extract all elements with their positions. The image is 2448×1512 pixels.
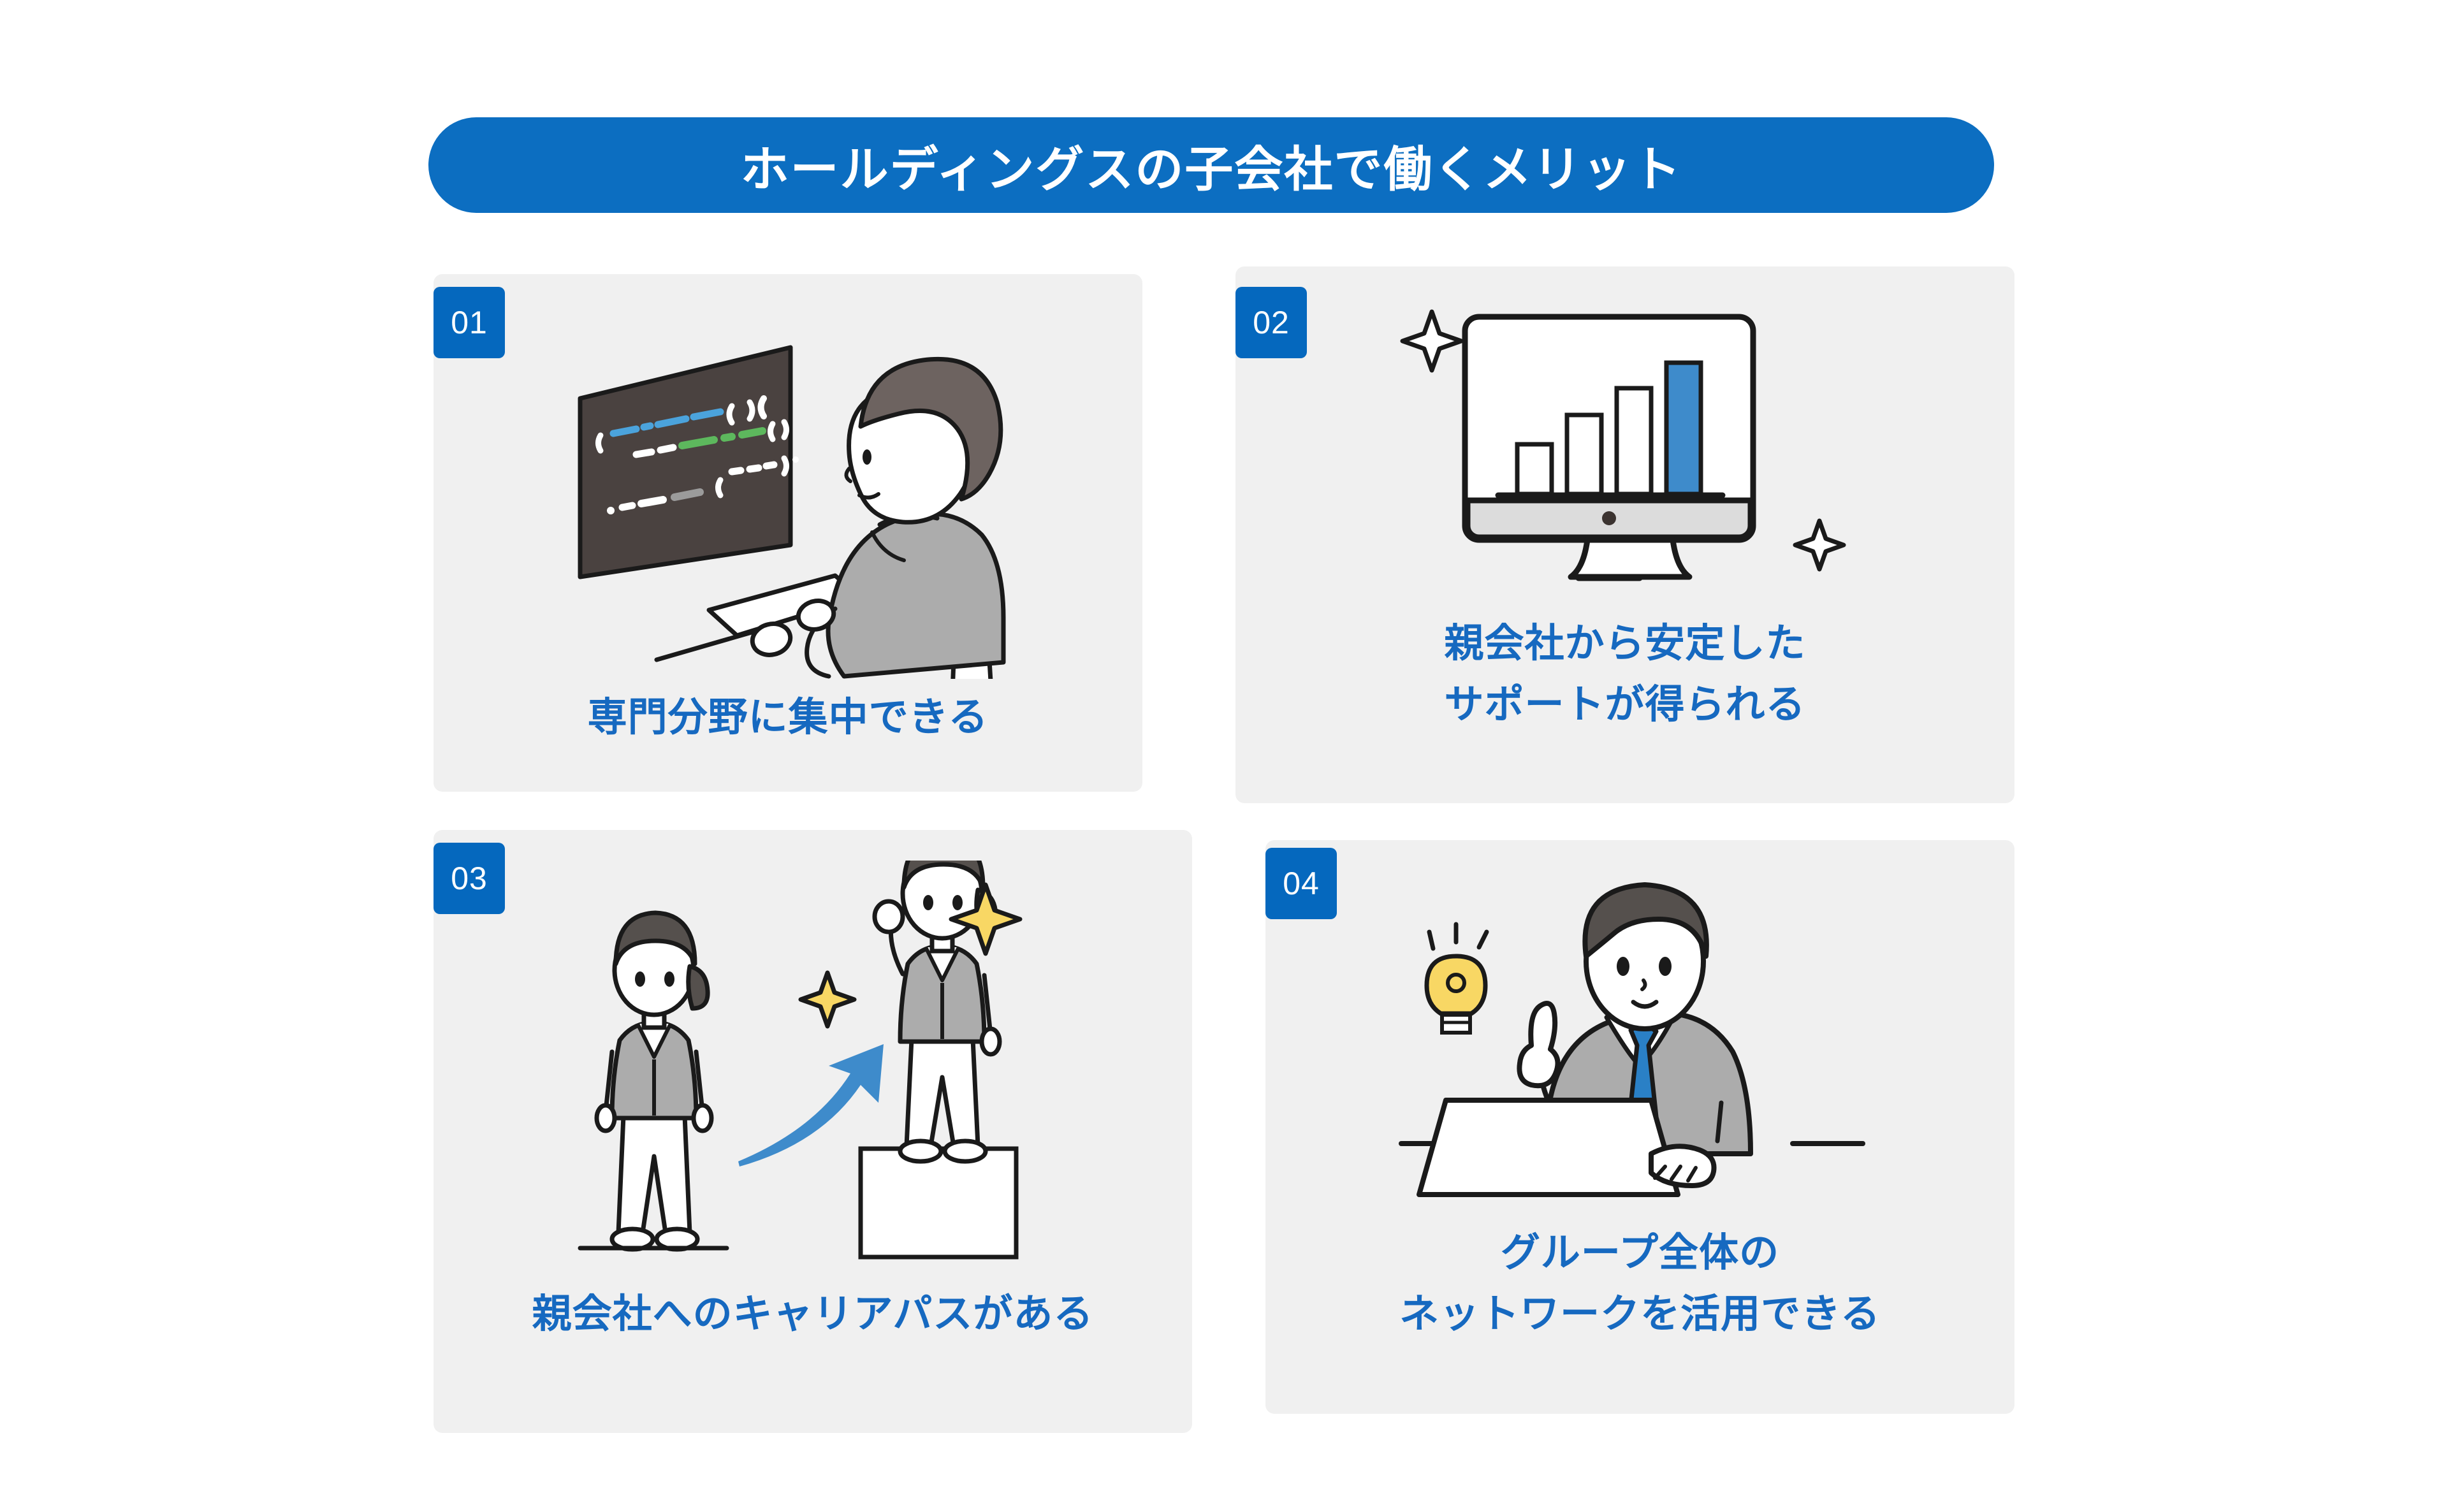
card-number-badge-03: 03: [433, 843, 505, 914]
sparkle-icon: [1402, 312, 1461, 370]
sparkle-icon: [1795, 521, 1844, 569]
lightbulb-icon: [1427, 924, 1487, 1033]
card-caption-02: 親会社から安定した サポートが得られる: [1235, 613, 2014, 736]
card-caption-03: 親会社へのキャリアパスがある: [433, 1284, 1192, 1345]
card-caption-02-line-1: 親会社から安定した: [1235, 613, 2014, 674]
page-title-banner: ホールディングスの子会社で働くメリット: [428, 117, 1994, 213]
card-caption-04: グループ全体の ネットワークを活用できる: [1265, 1223, 2014, 1345]
card-caption-04-line-2: ネットワークを活用できる: [1265, 1284, 2014, 1345]
page-title: ホールディングスの子会社で働くメリット: [741, 130, 1682, 200]
card-caption-04-line-1: グループ全体の: [1265, 1223, 2014, 1284]
card-caption-01: 専門分野に集中できる: [433, 687, 1142, 748]
card-number-badge-02: 02: [1235, 287, 1307, 358]
card-number-badge-04: 04: [1265, 848, 1337, 919]
card-caption-02-line-2: サポートが得られる: [1235, 674, 2014, 736]
illustration-businessman-idea: [1390, 880, 1874, 1224]
illustration-career-step-up: [574, 861, 1058, 1275]
illustration-monitor-bar-chart: [1396, 290, 1855, 596]
card-number-badge-01: 01: [433, 287, 505, 358]
sparkle-icon: [801, 973, 854, 1026]
illustration-person-coding: [561, 322, 1071, 679]
